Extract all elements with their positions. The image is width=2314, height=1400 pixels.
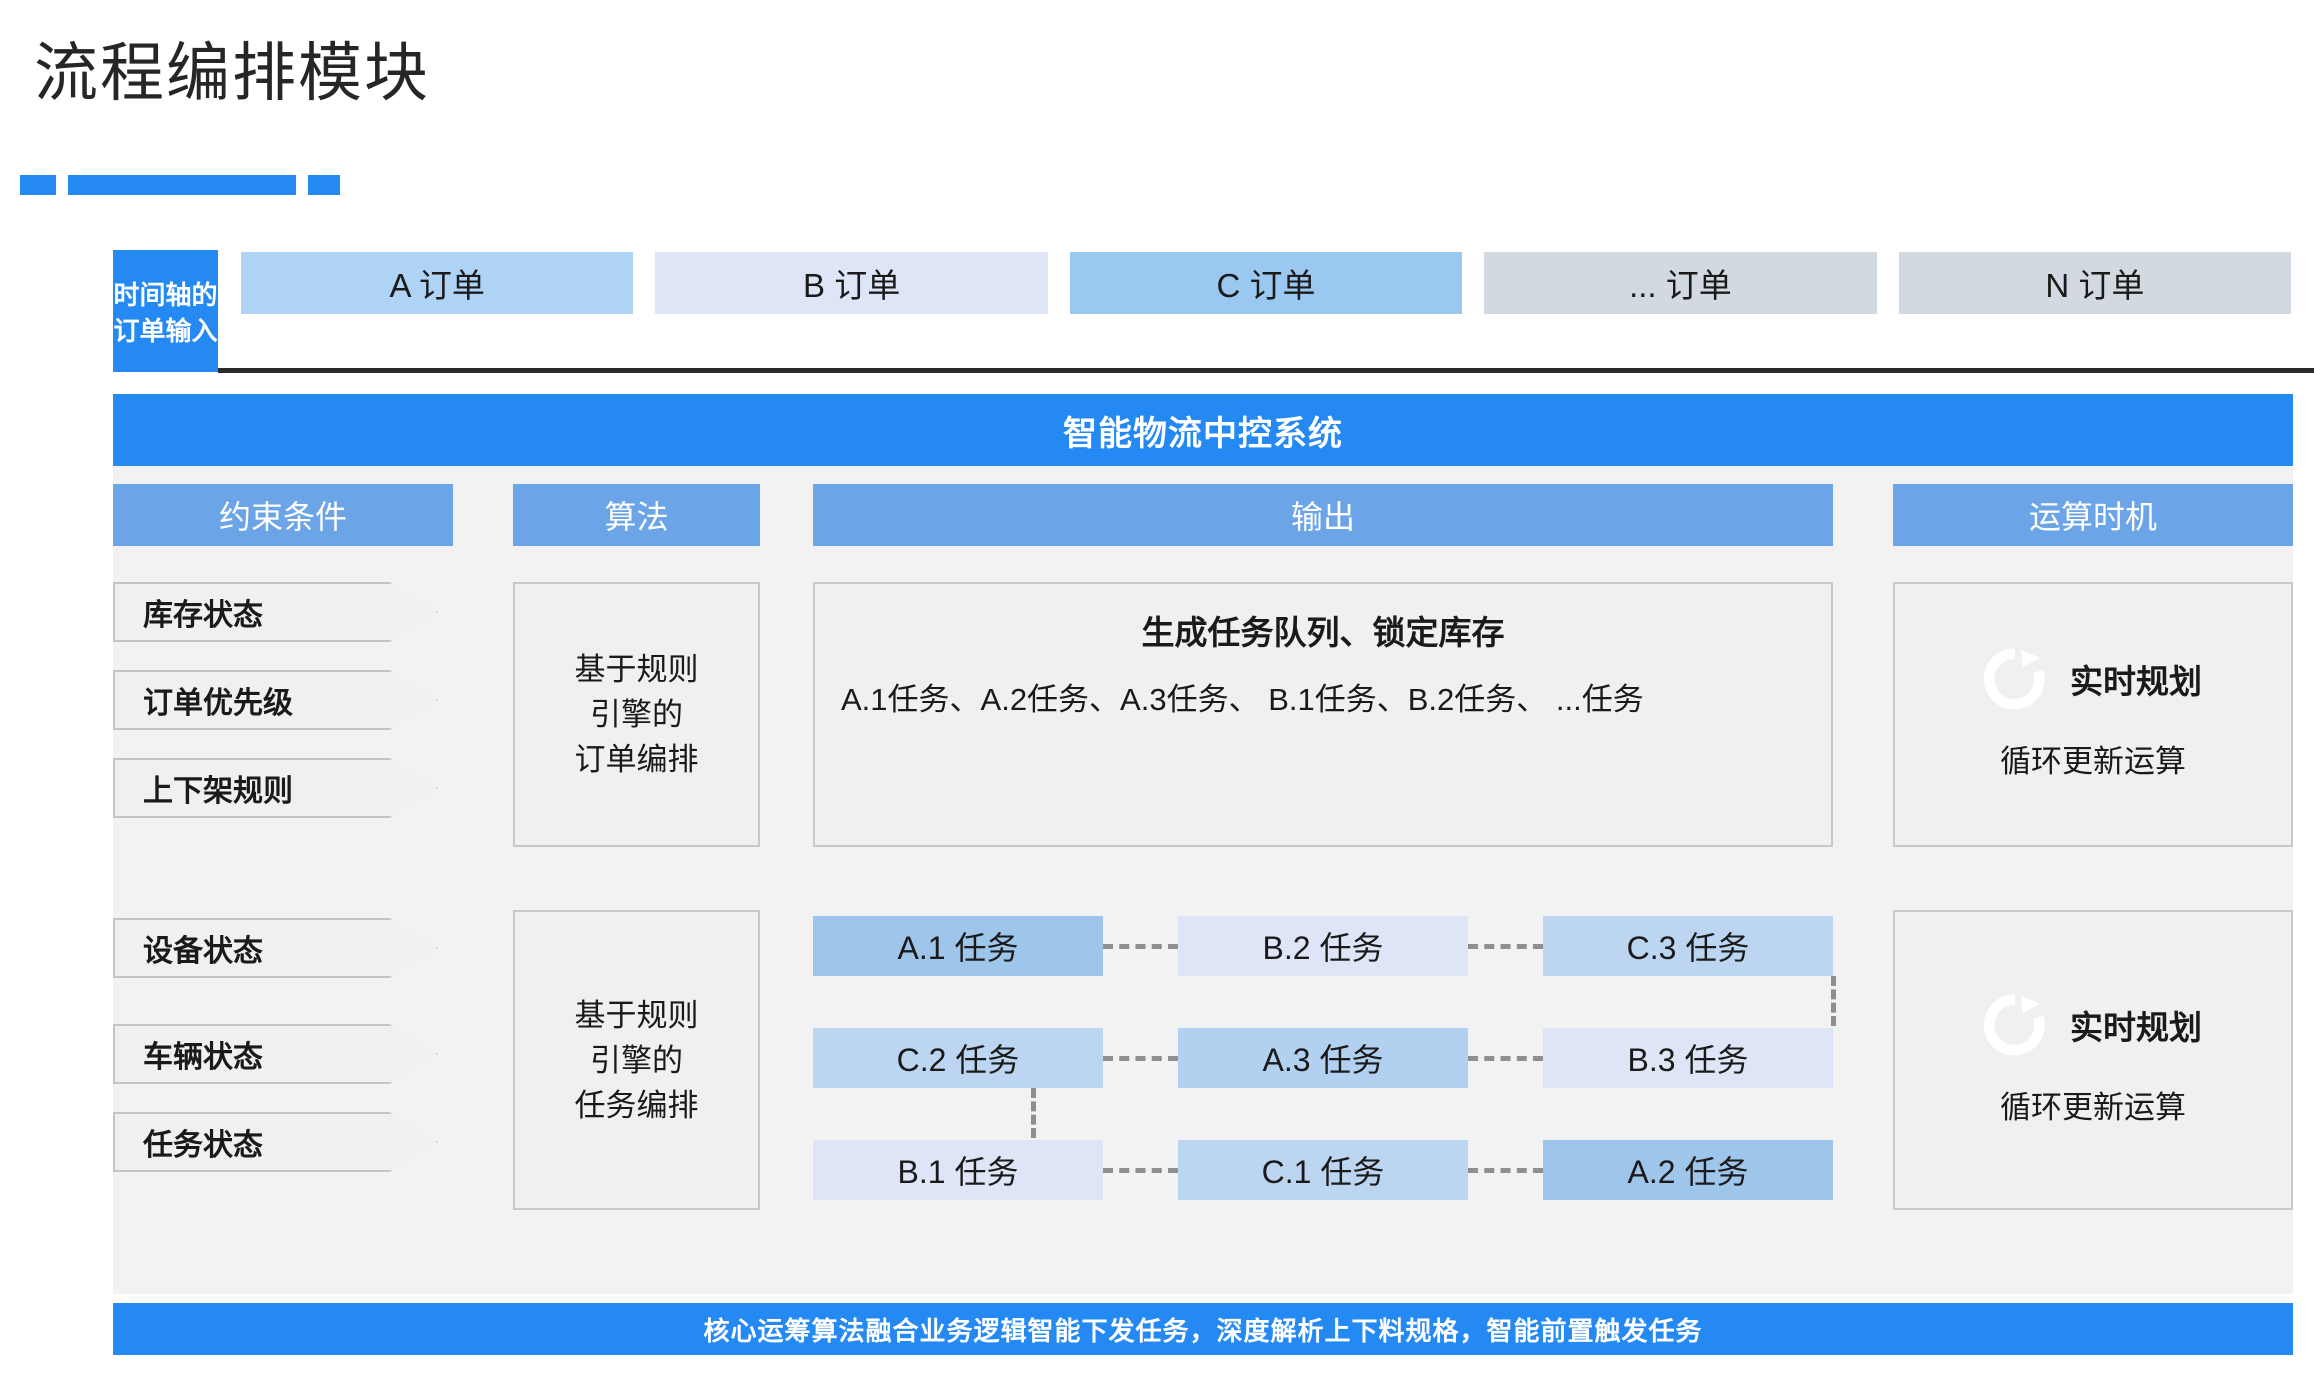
constraint-chevron-vehicle[interactable]: 车辆状态 (113, 1024, 438, 1084)
page-title: 流程编排模块 (34, 22, 430, 114)
task-sequence-grid: A.1 任务 B.2 任务 C.3 任务 C.2 任务 A.3 任务 B.3 任… (813, 910, 1833, 1210)
task-box-c2[interactable]: C.2 任务 (813, 1028, 1103, 1088)
constraint-chevron-equipment[interactable]: 设备状态 (113, 918, 438, 978)
task-box-c3[interactable]: C.3 任务 (1543, 916, 1833, 976)
task-box-a1[interactable]: A.1 任务 (813, 916, 1103, 976)
accent-bar-3 (308, 175, 340, 195)
order-box-ellipsis[interactable]: ... 订单 (1484, 252, 1876, 314)
task-box-b1[interactable]: B.1 任务 (813, 1140, 1103, 1200)
column-header-timing: 运算时机 (1893, 484, 2293, 546)
task-connector-dashed (1468, 1056, 1543, 1061)
footer-banner: 核心运筹算法融合业务逻辑智能下发任务，深度解析上下料规格，智能前置触发任务 (113, 1303, 2293, 1355)
constraint-chevron-shelving-rule[interactable]: 上下架规则 (113, 758, 438, 818)
timing-head-row: 实时规划 (1984, 994, 2202, 1056)
task-connector-vertical (1831, 976, 1836, 1026)
timeline-label-line1: 时间轴的 (113, 277, 217, 313)
constraint-chevron-task[interactable]: 任务状态 (113, 1112, 438, 1172)
slide-canvas: 流程编排模块 时间轴的 订单输入 A 订单 B 订单 C 订单 ... 订单 N… (0, 0, 2314, 1400)
accent-bar-2 (68, 175, 296, 195)
timing-head-row: 实时规划 (1984, 648, 2202, 710)
task-box-b2[interactable]: B.2 任务 (1178, 916, 1468, 976)
task-connector-dashed (1103, 944, 1178, 949)
timing-title-task: 实时规划 (2070, 1001, 2202, 1049)
timeline-axis (218, 368, 2314, 373)
timeline-label-line2: 订单输入 (113, 313, 217, 349)
task-row: C.2 任务 A.3 任务 B.3 任务 (813, 1028, 1833, 1088)
output-title: 生成任务队列、锁定库存 (841, 606, 1805, 654)
timing-card-task: 实时规划 循环更新运算 (1893, 910, 2293, 1210)
task-box-b3[interactable]: B.3 任务 (1543, 1028, 1833, 1088)
task-box-a3[interactable]: A.3 任务 (1178, 1028, 1468, 1088)
system-header: 智能物流中控系统 (113, 394, 2293, 466)
constraint-group-2: 设备状态 车辆状态 任务状态 (113, 894, 453, 1200)
task-connector-dashed (1103, 1056, 1178, 1061)
timing-title-order: 实时规划 (2070, 655, 2202, 703)
output-body: A.1任务、A.2任务、A.3任务、 B.1任务、B.2任务、 ...任务 (841, 676, 1805, 723)
output-box-task-queue: 生成任务队列、锁定库存 A.1任务、A.2任务、A.3任务、 B.1任务、B.2… (813, 582, 1833, 847)
accent-bar-1 (20, 175, 56, 195)
task-connector-dashed (1103, 1168, 1178, 1173)
timing-sub-task: 循环更新运算 (2000, 1082, 2186, 1127)
task-connector-dashed (1468, 1168, 1543, 1173)
constraint-chevron-inventory[interactable]: 库存状态 (113, 582, 438, 642)
title-accent-bars (20, 175, 340, 195)
constraint-chevron-order-priority[interactable]: 订单优先级 (113, 670, 438, 730)
timing-sub-order: 循环更新运算 (2000, 736, 2186, 781)
order-box-b[interactable]: B 订单 (655, 252, 1047, 314)
order-box-a[interactable]: A 订单 (241, 252, 633, 314)
column-header-constraint: 约束条件 (113, 484, 453, 546)
constraint-group-1: 库存状态 订单优先级 上下架规则 (113, 574, 453, 846)
task-connector-dashed (1468, 944, 1543, 949)
task-row: A.1 任务 B.2 任务 C.3 任务 (813, 916, 1833, 976)
task-connector-vertical (1031, 1088, 1036, 1138)
control-system-panel: 智能物流中控系统 约束条件 算法 输出 运算时机 库存状态 订单优先级 上下架规… (113, 394, 2293, 1294)
task-orchestration-row: 设备状态 车辆状态 任务状态 基于规则引擎的任务编排 A.1 任务 B.2 任务… (113, 894, 2293, 1224)
timeline-label: 时间轴的 订单输入 (113, 250, 218, 372)
order-box-n[interactable]: N 订单 (1899, 252, 2291, 314)
timing-card-order: 实时规划 循环更新运算 (1893, 582, 2293, 847)
order-orchestration-row: 库存状态 订单优先级 上下架规则 基于规则引擎的订单编排 生成任务队列、锁定库存… (113, 574, 2293, 859)
order-box-c[interactable]: C 订单 (1070, 252, 1462, 314)
task-box-c1[interactable]: C.1 任务 (1178, 1140, 1468, 1200)
algorithm-box-order: 基于规则引擎的订单编排 (513, 582, 760, 847)
column-header-output: 输出 (813, 484, 1833, 546)
algorithm-box-task: 基于规则引擎的任务编排 (513, 910, 760, 1210)
refresh-icon (1984, 994, 2046, 1056)
task-box-a2[interactable]: A.2 任务 (1543, 1140, 1833, 1200)
refresh-icon (1984, 648, 2046, 710)
timeline-row: 时间轴的 订单输入 A 订单 B 订单 C 订单 ... 订单 N 订单 (113, 250, 2293, 375)
column-header-algorithm: 算法 (513, 484, 760, 546)
task-row: B.1 任务 C.1 任务 A.2 任务 (813, 1140, 1833, 1200)
order-list: A 订单 B 订单 C 订单 ... 订单 N 订单 (241, 252, 2291, 314)
column-header-row: 约束条件 算法 输出 运算时机 (113, 484, 2293, 546)
